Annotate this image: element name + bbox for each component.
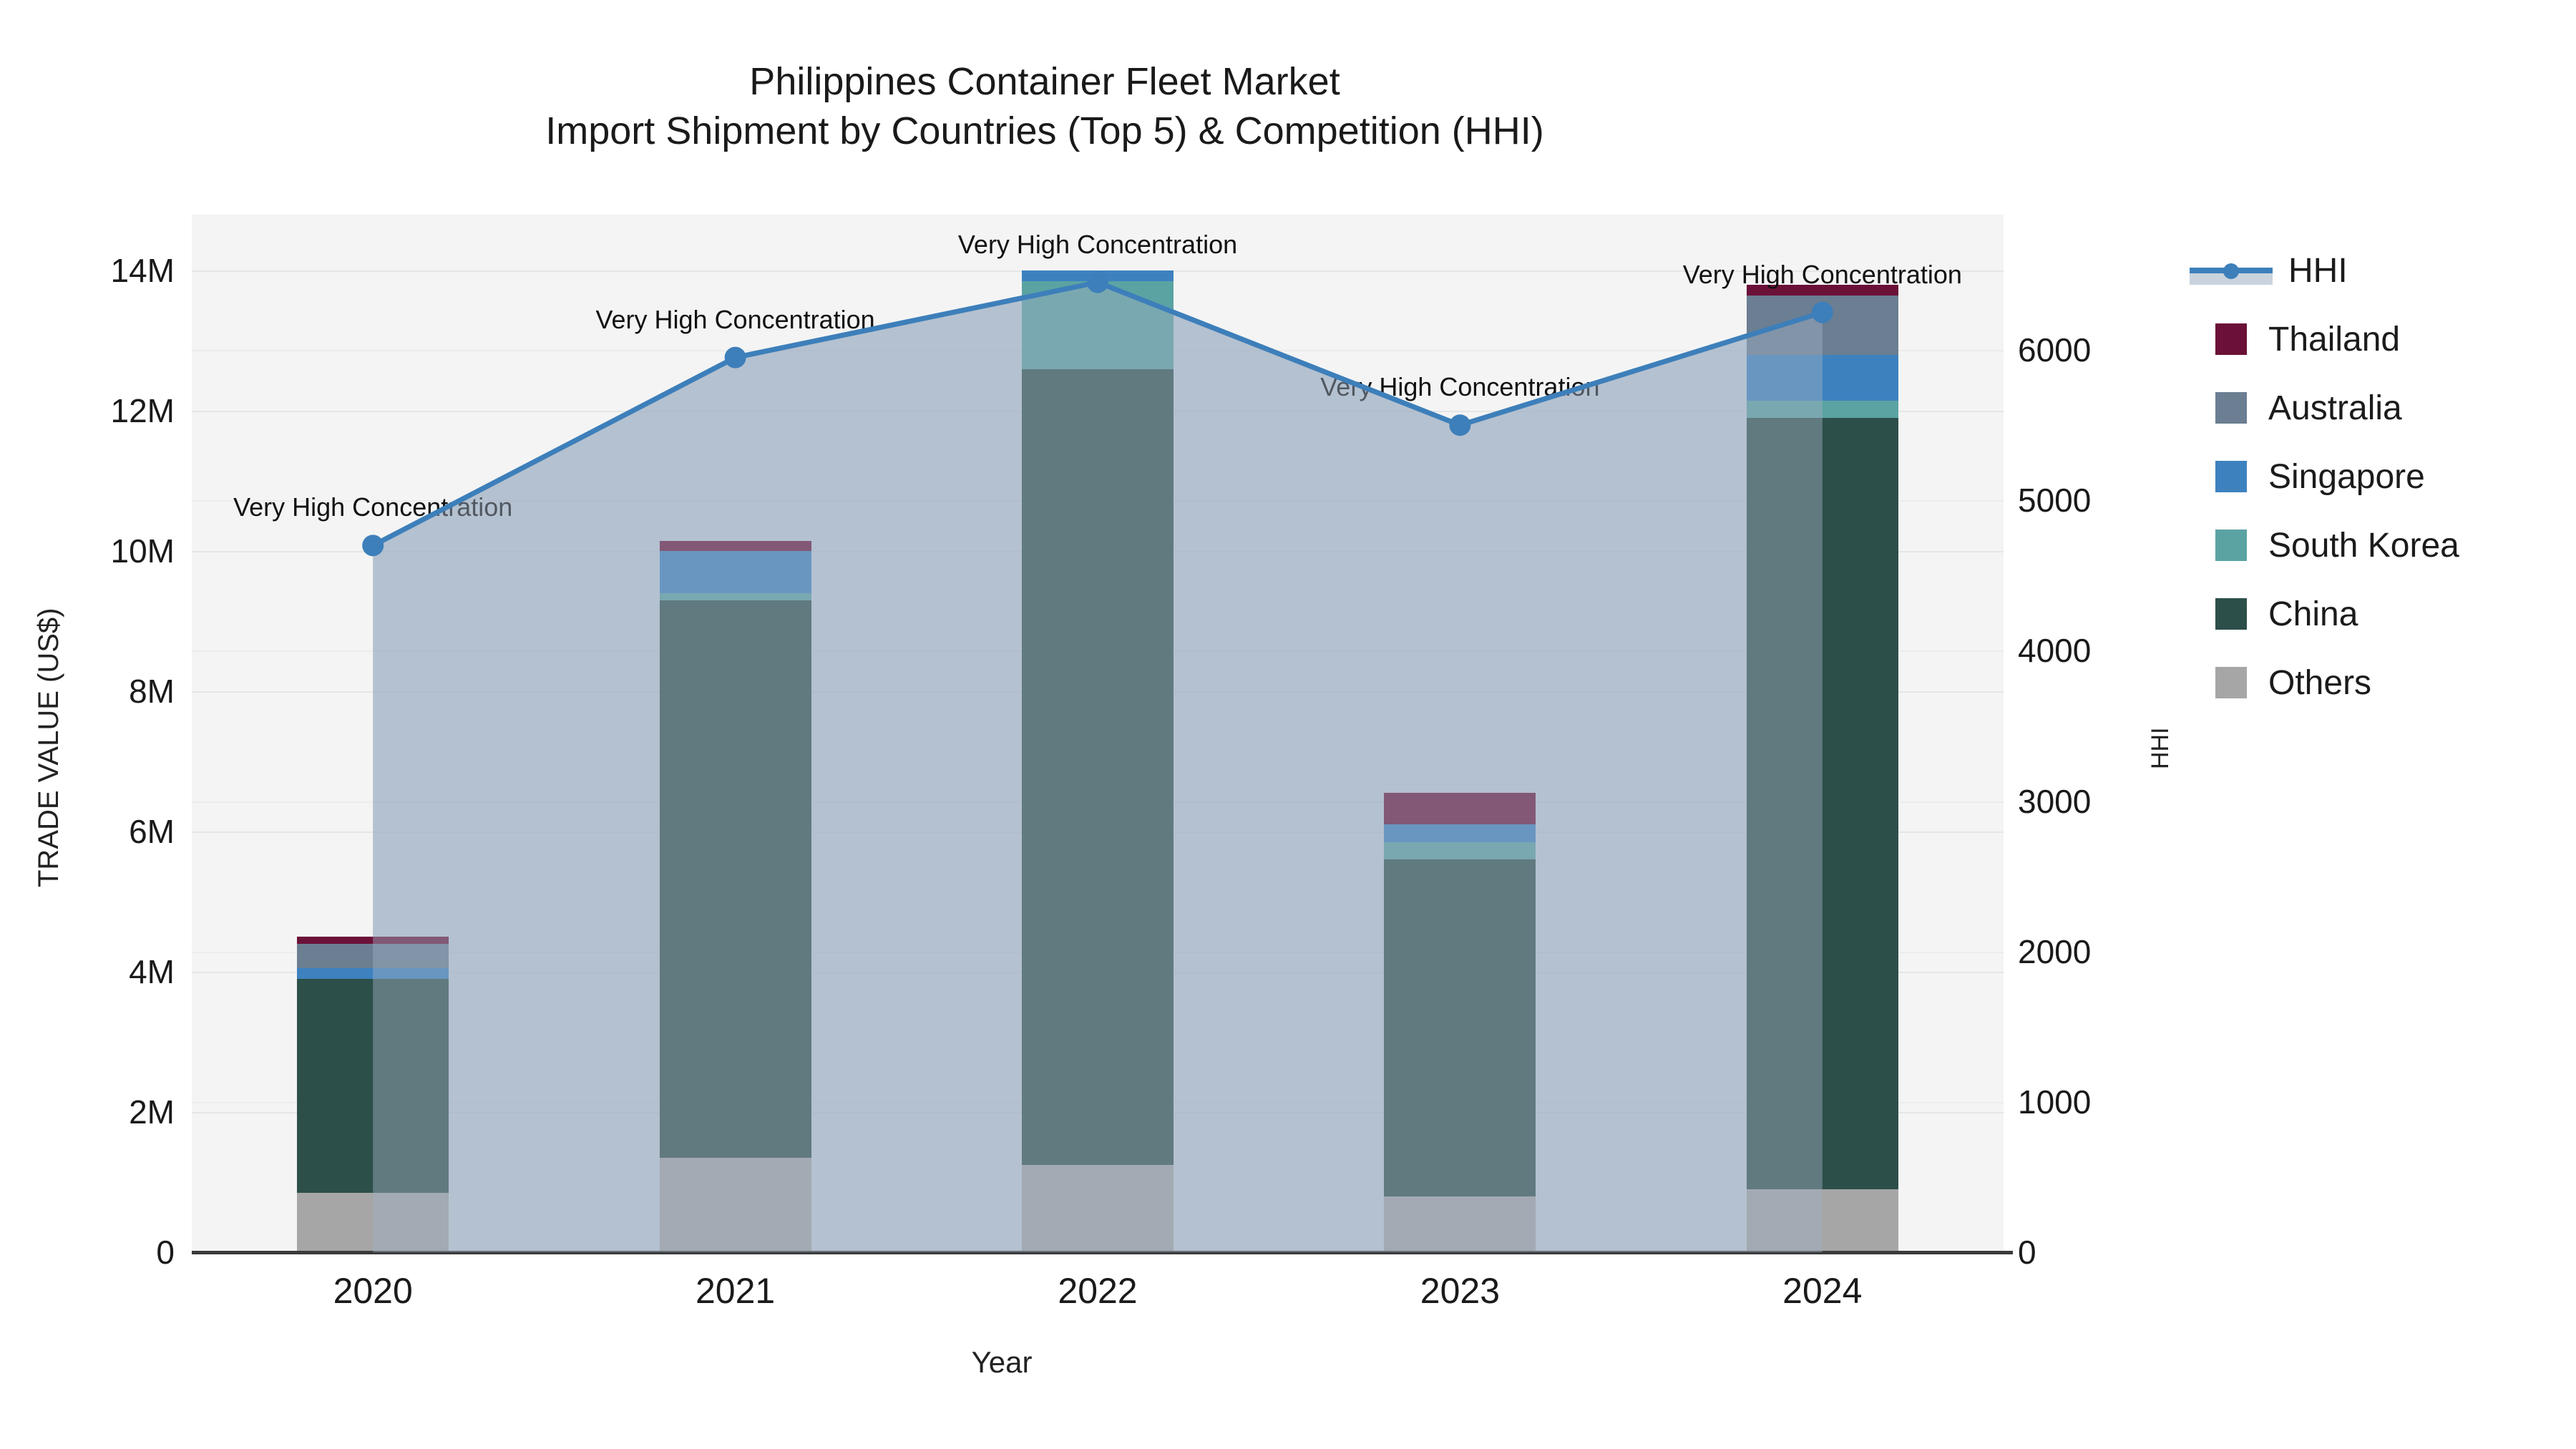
x-tick: 2024 xyxy=(1782,1270,1862,1312)
bar-segment[interactable] xyxy=(660,541,811,552)
legend-item[interactable]: China xyxy=(2190,580,2562,648)
annotation-label: Very High Concentration xyxy=(1320,372,1599,402)
legend-color-swatch-icon xyxy=(2215,461,2247,492)
legend-dot-icon xyxy=(2223,263,2239,279)
bar-segment[interactable] xyxy=(1384,842,1536,859)
bar-segment[interactable] xyxy=(1022,369,1174,1165)
bar-segment[interactable] xyxy=(297,979,449,1193)
legend-color-swatch-icon xyxy=(2215,392,2247,424)
y-tick-left: 2M xyxy=(0,1093,175,1131)
x-tick: 2022 xyxy=(1058,1270,1137,1312)
legend-item-label: Singapore xyxy=(2268,457,2425,497)
x-axis-label: Year xyxy=(0,1345,2004,1380)
legend-item-label: HHI xyxy=(2288,251,2348,291)
y-tick-left: 8M xyxy=(0,672,175,711)
legend-color-swatch-icon xyxy=(2215,530,2247,561)
bar-segment[interactable] xyxy=(1384,859,1536,1196)
annotation-label: Very High Concentration xyxy=(958,230,1237,260)
legend-item[interactable]: Others xyxy=(2190,648,2562,717)
bar-segment[interactable] xyxy=(1747,401,1898,418)
bar-segment[interactable] xyxy=(1747,418,1898,1189)
legend-item-label: Australia xyxy=(2268,389,2402,428)
bar-segment[interactable] xyxy=(1747,355,1898,401)
legend-item-label: Others xyxy=(2268,663,2371,703)
legend-item-label: Thailand xyxy=(2268,320,2400,359)
legend-item-label: South Korea xyxy=(2268,526,2459,565)
chart-root: Philippines Container Fleet Market Impor… xyxy=(0,0,2576,1449)
y-tick-right: 5000 xyxy=(2018,481,2091,519)
y-tick-left: 10M xyxy=(0,532,175,570)
legend-item-label: China xyxy=(2268,595,2358,634)
legend-color-swatch-icon xyxy=(2215,323,2247,355)
x-tick: 2020 xyxy=(333,1270,413,1312)
y-tick-left: 6M xyxy=(0,812,175,851)
bar-segment[interactable] xyxy=(1022,270,1174,281)
legend-color-swatch-icon xyxy=(2215,598,2247,630)
y-tick-right: 6000 xyxy=(2018,331,2091,369)
chart-subtitle: Import Shipment by Countries (Top 5) & C… xyxy=(0,107,2089,156)
bar-segment[interactable] xyxy=(660,600,811,1158)
x-axis-line xyxy=(192,1251,2013,1254)
bar-segment[interactable] xyxy=(1384,793,1536,824)
legend-item[interactable]: HHI xyxy=(2190,236,2562,305)
bar-segment[interactable] xyxy=(660,551,811,593)
y-tick-right: 1000 xyxy=(2018,1083,2091,1121)
y-tick-left: 14M xyxy=(0,251,175,290)
bar-segment[interactable] xyxy=(660,593,811,600)
bar-segment[interactable] xyxy=(1384,1196,1536,1252)
y-tick-left: 4M xyxy=(0,952,175,991)
chart-title: Philippines Container Fleet Market xyxy=(0,57,2089,107)
y-tick-right: 2000 xyxy=(2018,932,2091,971)
legend-item[interactable]: South Korea xyxy=(2190,511,2562,580)
y-axis-left-label: TRADE VALUE (US$) xyxy=(33,608,65,887)
y-tick-left: 12M xyxy=(0,391,175,430)
y-axis-right-label: HHI xyxy=(2147,727,2175,769)
bar-segment[interactable] xyxy=(297,968,449,979)
y-tick-right: 0 xyxy=(2018,1233,2036,1272)
annotation-label: Very High Concentration xyxy=(1683,260,1962,290)
legend-item[interactable]: Singapore xyxy=(2190,442,2562,511)
bar-segment[interactable] xyxy=(1022,281,1174,369)
y-tick-right: 4000 xyxy=(2018,631,2091,670)
legend-color-swatch-icon xyxy=(2215,667,2247,698)
legend: HHIThailandAustraliaSingaporeSouth Korea… xyxy=(2190,236,2562,717)
x-tick: 2023 xyxy=(1420,1270,1500,1312)
x-tick: 2021 xyxy=(696,1270,775,1312)
bar-segment[interactable] xyxy=(660,1158,811,1252)
y-tick-left: 0 xyxy=(0,1233,175,1272)
bar-segment[interactable] xyxy=(1747,1189,1898,1252)
bar-segment[interactable] xyxy=(1022,1165,1174,1252)
legend-line-marker-icon xyxy=(2190,255,2273,286)
bar-segment[interactable] xyxy=(1747,296,1898,355)
bar-segment[interactable] xyxy=(297,1193,449,1252)
legend-item[interactable]: Australia xyxy=(2190,374,2562,442)
bar-segment[interactable] xyxy=(1384,824,1536,841)
annotation-label: Very High Concentration xyxy=(233,492,512,522)
bar-segment[interactable] xyxy=(297,937,449,944)
y-tick-right: 3000 xyxy=(2018,782,2091,821)
legend-item[interactable]: Thailand xyxy=(2190,305,2562,374)
annotation-label: Very High Concentration xyxy=(595,305,874,335)
chart-title-block: Philippines Container Fleet Market Impor… xyxy=(0,57,2089,156)
bar-segment[interactable] xyxy=(297,944,449,968)
